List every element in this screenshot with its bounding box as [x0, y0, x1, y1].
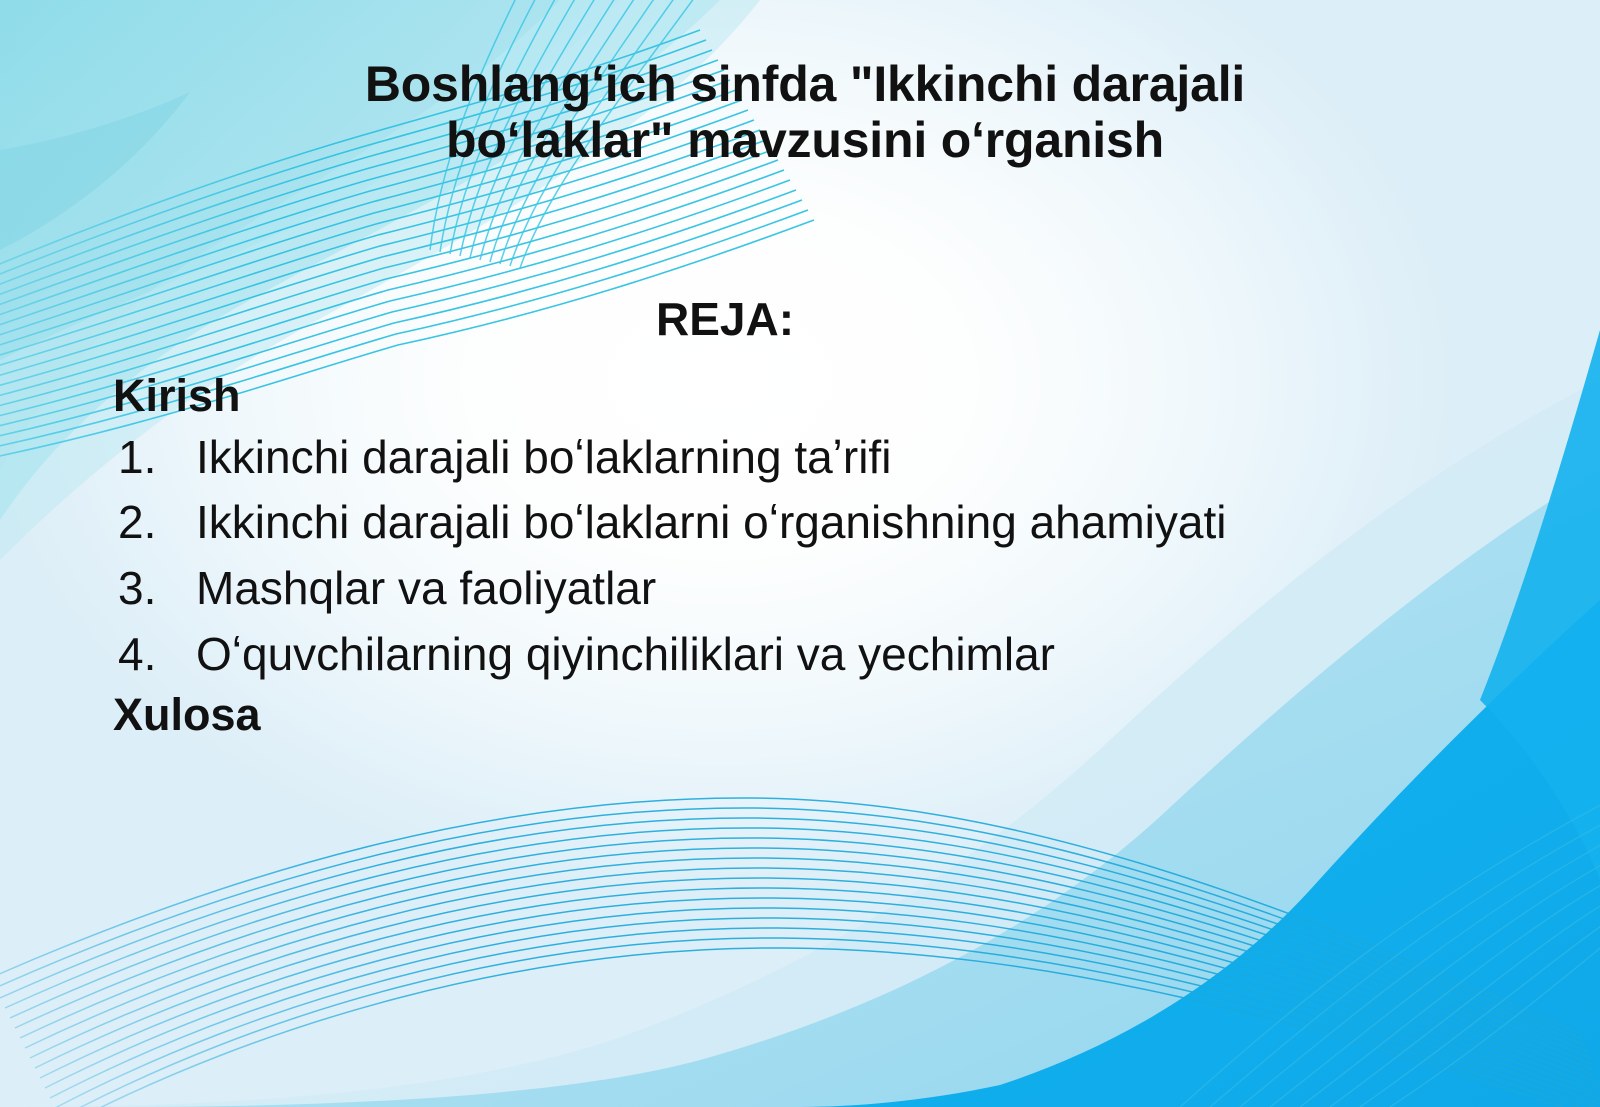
presentation-slide: Boshlangʻich sinfda "Ikkinchi darajali b…	[0, 0, 1600, 1107]
plan-list: 1. Ikkinchi darajali boʻlaklarning taʼri…	[110, 428, 1540, 685]
conclusion-label: Xulosa	[113, 691, 1540, 739]
list-item-number: 2.	[118, 493, 178, 553]
list-item-number: 4.	[118, 625, 178, 685]
intro-label: Kirish	[113, 372, 1540, 420]
plan-block: Kirish 1. Ikkinchi darajali boʻlaklarnin…	[110, 372, 1540, 739]
list-item: 1. Ikkinchi darajali boʻlaklarning taʼri…	[110, 428, 1540, 488]
list-item-label: Ikkinchi darajali boʻlaklarni oʻrganishn…	[196, 493, 1540, 553]
list-item-label: Mashqlar va faoliyatlar	[196, 559, 1540, 619]
list-item-label: Oʻquvchilarning qiyinchiliklari va yechi…	[196, 625, 1540, 685]
plan-heading: REJA:	[150, 292, 1300, 346]
list-item: 2. Ikkinchi darajali boʻlaklarni oʻrgani…	[110, 493, 1540, 553]
list-item-number: 1.	[118, 428, 178, 488]
list-item: 3. Mashqlar va faoliyatlar	[110, 559, 1540, 619]
slide-content: Boshlangʻich sinfda "Ikkinchi darajali b…	[0, 0, 1600, 1107]
list-item-number: 3.	[118, 559, 178, 619]
list-item: 4. Oʻquvchilarning qiyinchiliklari va ye…	[110, 625, 1540, 685]
list-item-label: Ikkinchi darajali boʻlaklarning taʼrifi	[196, 428, 1540, 488]
slide-title: Boshlangʻich sinfda "Ikkinchi darajali b…	[150, 56, 1460, 168]
